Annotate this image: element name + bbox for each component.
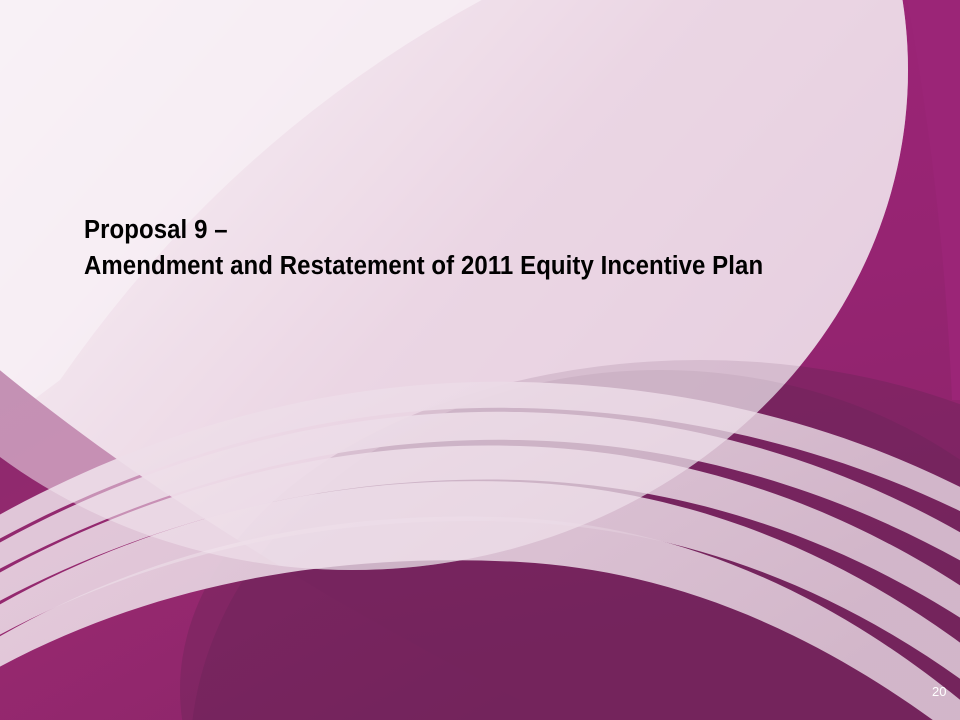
decorative-background bbox=[0, 0, 960, 720]
page-number: 20 bbox=[932, 684, 958, 699]
title-line-1: Proposal 9 – bbox=[84, 212, 836, 248]
slide-title: Proposal 9 – Amendment and Restatement o… bbox=[84, 212, 884, 284]
slide-canvas: Proposal 9 – Amendment and Restatement o… bbox=[0, 0, 960, 720]
title-line-2: Amendment and Restatement of 2011 Equity… bbox=[84, 248, 836, 284]
